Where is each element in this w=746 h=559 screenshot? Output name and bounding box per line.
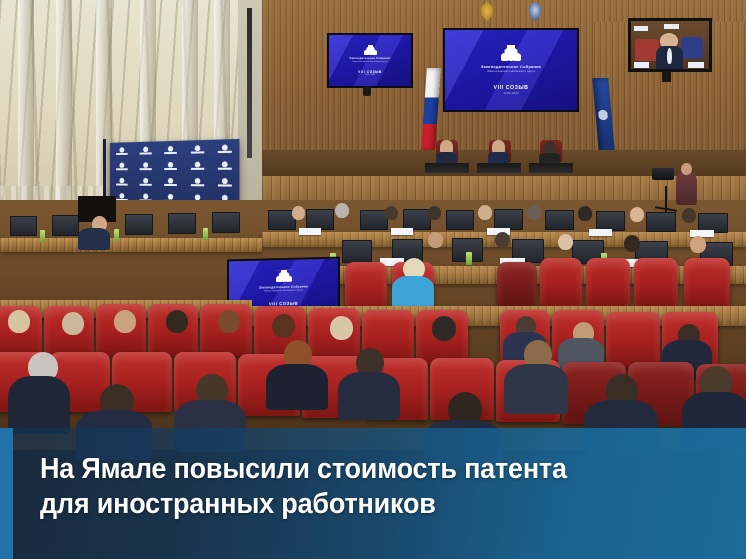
audience-head [432, 316, 456, 341]
delegate-monitor [52, 215, 79, 236]
presidium-desk [529, 163, 573, 173]
delegate-monitor [446, 210, 474, 230]
delegate-head [495, 232, 510, 248]
delegate-body [78, 228, 110, 250]
delegate-body [392, 276, 434, 310]
delegate-head [428, 232, 443, 248]
hall-seat [540, 258, 582, 306]
screen-subtitle-small: Ямало-Ненецкого автономного округа [352, 61, 387, 63]
screen-subtitle-floor: Ямало-Ненецкого автономного округа [264, 290, 303, 293]
delegate-head [624, 235, 640, 252]
headline-banner: На Ямале повысили стоимость патента для … [0, 428, 746, 559]
screen-years-main: 2025–2030 [503, 91, 518, 95]
audience-head [8, 310, 30, 333]
audience-head [330, 316, 353, 340]
audience-body [8, 376, 70, 434]
delegate-head [682, 208, 696, 223]
cameraman-head [681, 163, 692, 175]
delegate-monitor [10, 216, 37, 236]
news-card-image: Законодательное Собрание Ямало-Ненецкого… [0, 0, 746, 559]
delegate-monitor [494, 209, 523, 230]
headline-line-1: На Ямале повысили стоимость патента [40, 452, 674, 487]
delegate-head [630, 207, 644, 222]
assembly-logo-icon [364, 45, 377, 55]
delegate-head [527, 205, 541, 220]
delegate-monitor [168, 213, 196, 234]
audience-body [504, 364, 568, 414]
delegate-monitor [360, 210, 388, 230]
presidium-desk [425, 163, 469, 173]
delegate-nameplate [391, 228, 413, 235]
audience-head [166, 310, 188, 333]
water-bottle [114, 229, 119, 241]
delegate-head [335, 203, 349, 218]
water-bottle [203, 228, 208, 240]
delegate-monitor [306, 209, 334, 230]
delegate-monitor [125, 214, 153, 235]
delegate-head [690, 236, 706, 253]
hall-seat [634, 258, 678, 306]
audience-head [272, 314, 295, 338]
water-bottle [466, 252, 472, 265]
delegate-monitor [342, 240, 372, 263]
delegate-head [478, 205, 492, 220]
delegate-nameplate [589, 229, 612, 236]
delegate-monitor [596, 211, 625, 231]
delegate-monitor [403, 209, 431, 230]
screen-years-small: 2025–2030 [365, 74, 375, 76]
delegate-monitor [212, 212, 240, 233]
cameraman [676, 172, 697, 205]
wall-display-small: Законодательное Собрание Ямало-Ненецкого… [327, 33, 413, 88]
delegate-head [558, 234, 573, 250]
water-bottle [40, 230, 45, 242]
presidium-desk [477, 163, 521, 173]
screen-subtitle-main: Ямало-Ненецкого автономного округа [487, 70, 535, 73]
delegate-head [292, 206, 305, 220]
delegate-head [428, 206, 441, 220]
delegate-head [578, 206, 592, 221]
hall-seat [497, 262, 537, 310]
screen-mount-bracket [363, 87, 371, 96]
tv-wall-mount [662, 71, 671, 82]
audience-head [114, 310, 136, 333]
delegate-head [385, 206, 398, 220]
audience-head [62, 312, 84, 335]
hall-seat [684, 258, 730, 308]
wall-vent-strip [247, 8, 252, 158]
hall-seat [606, 312, 660, 368]
live-feed-monitor [628, 18, 712, 72]
audience-body [338, 372, 400, 420]
assembly-logo-icon [276, 270, 292, 283]
hall-seat [586, 258, 630, 306]
headline-line-2: для иностранных работников [40, 487, 674, 522]
assembly-logo-icon [501, 45, 521, 61]
video-camera [652, 168, 674, 180]
wall-display-main: Законодательное Собрание Ямало-Ненецкого… [443, 28, 579, 112]
delegate-monitor [646, 212, 676, 232]
delegate-nameplate [299, 228, 321, 235]
audience-head [218, 310, 240, 333]
banner-accent-bar [0, 428, 13, 559]
audience-body [266, 364, 328, 410]
delegate-monitor [545, 210, 574, 230]
headline-text: На Ямале повысили стоимость патента для … [40, 452, 674, 523]
